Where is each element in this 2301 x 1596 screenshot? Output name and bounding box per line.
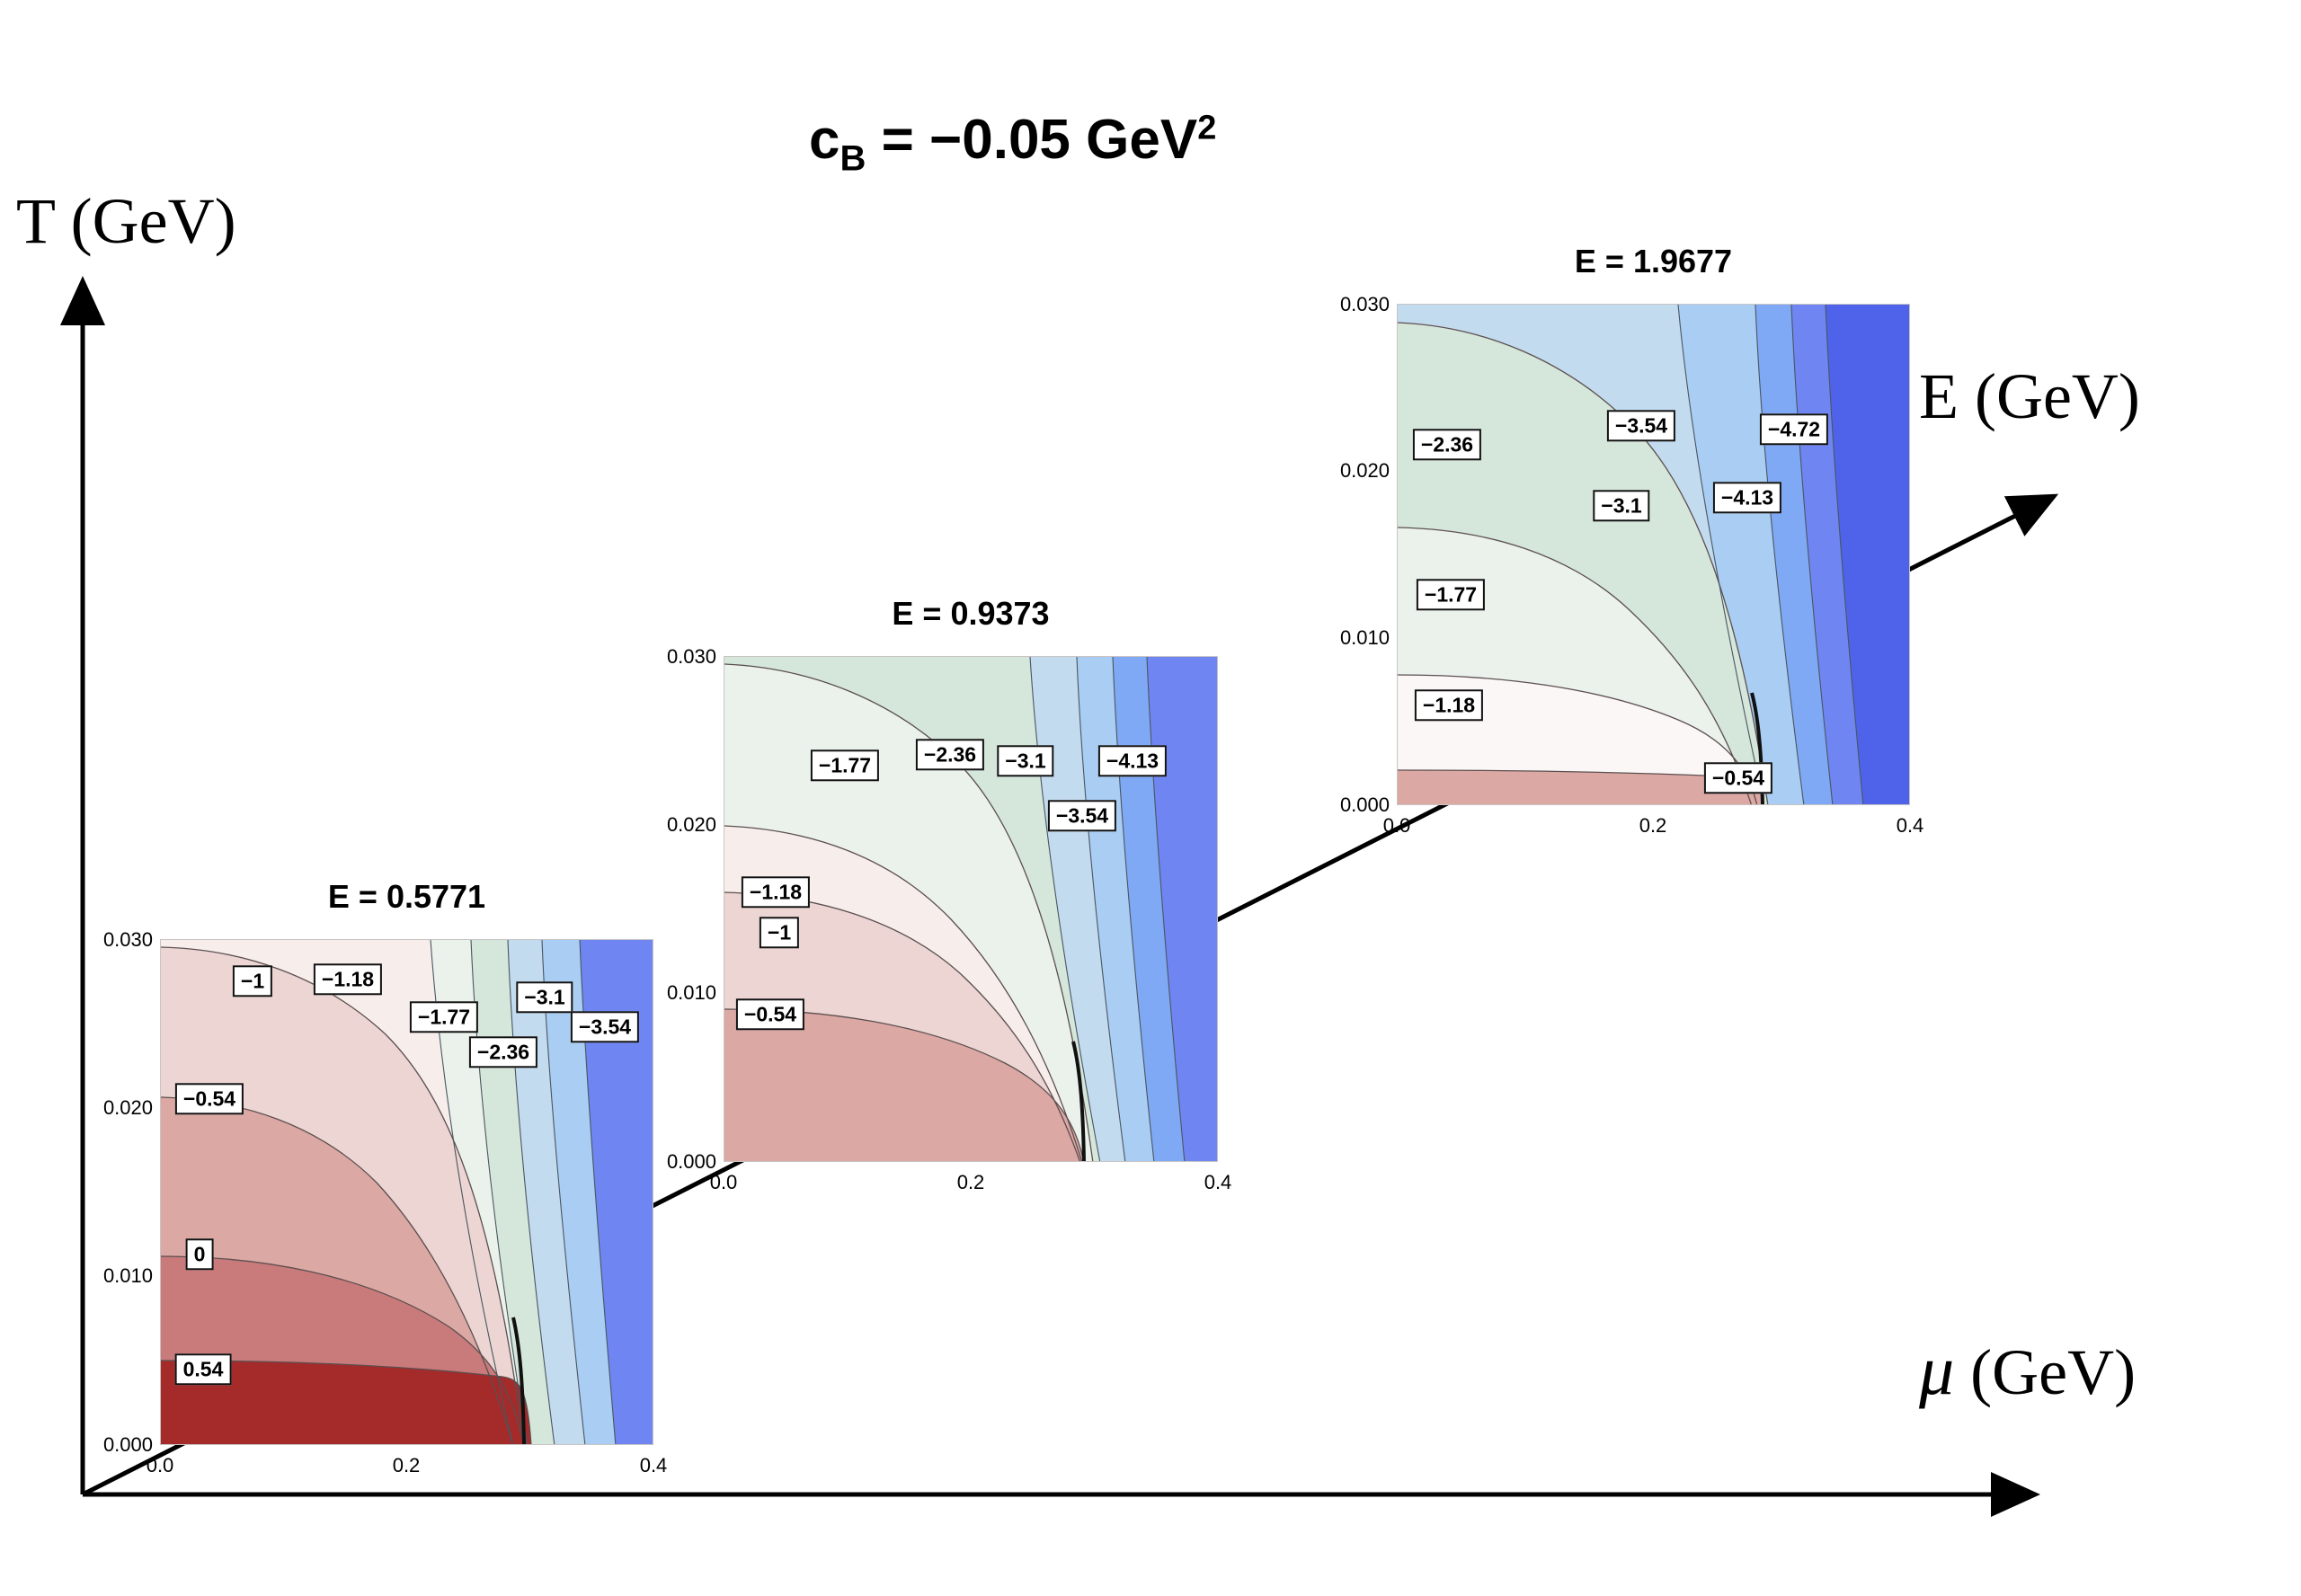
panel-2-xtick-0: 0.0: [710, 1171, 738, 1194]
t-axis-label: T (GeV): [16, 184, 236, 259]
contour-label: −0.54: [736, 998, 804, 1030]
contour-label: −1: [233, 965, 272, 997]
panel-1-xtick-1: 0.2: [393, 1454, 421, 1477]
contour-label: −2.36: [1413, 429, 1481, 460]
contour-label: −1.77: [1417, 579, 1485, 610]
panel-2-xtick-2: 0.4: [1204, 1171, 1232, 1194]
panel-1-ytick-0: 0.000: [72, 1433, 153, 1457]
panel-3-xtick-2: 0.4: [1897, 814, 1924, 838]
contour-panel-1: E = 0.5771: [160, 885, 653, 1496]
figure-title-exponent: 2: [1197, 109, 1216, 146]
panel-3-xtick-1: 0.2: [1639, 814, 1667, 838]
contour-label: −3.1: [516, 981, 573, 1013]
panel-2-xtick-1: 0.2: [957, 1171, 985, 1194]
contour-label: −2.36: [469, 1036, 537, 1068]
contour-label: −2.36: [916, 739, 984, 770]
contour-label: −3.1: [997, 745, 1053, 776]
figure-canvas: cB = −0.05 GeV2 T (GeV) E (GeV) μ (GeV) …: [0, 0, 2301, 1596]
panel-3-plot-frame: [1397, 304, 1910, 805]
contour-label: −4.13: [1098, 745, 1167, 776]
panel-2-plot-frame: [724, 656, 1218, 1162]
contour-label: −3.1: [1593, 490, 1649, 521]
contour-label: −0.54: [1704, 762, 1772, 794]
mu-glyph: μ: [1919, 1331, 1954, 1409]
panel-1-xtick-2: 0.4: [640, 1454, 668, 1477]
panel-3-ytick-1: 0.010: [1309, 626, 1390, 650]
panel-1-ytick-1: 0.010: [72, 1264, 153, 1288]
e-axis-label: E (GeV): [1919, 359, 2140, 434]
panel-2-ytick-2: 0.020: [635, 813, 716, 837]
contour-label: −4.72: [1760, 413, 1828, 445]
contour-label: −1.18: [1415, 689, 1483, 721]
panel-3-ytick-2: 0.020: [1309, 459, 1390, 483]
panel-1-ytick-2: 0.020: [72, 1096, 153, 1120]
contour-label: −1: [760, 917, 799, 948]
contour-label: 0: [186, 1238, 214, 1270]
figure-title-cb: c: [809, 109, 840, 171]
panel-2-ytick-3: 0.030: [635, 645, 716, 669]
mu-axis-unit: (GeV): [1954, 1336, 2136, 1408]
panel-1-xtick-0: 0.0: [147, 1454, 174, 1477]
panel-2-contour-svg: [724, 657, 1218, 1162]
contour-label: −1.77: [811, 749, 879, 781]
panel-3-contour-svg: [1398, 305, 1910, 805]
contour-label: −3.54: [571, 1011, 639, 1042]
contour-label: −1.18: [742, 876, 810, 908]
contour-panel-2: E = 0.9373: [724, 602, 1218, 1213]
panel-3-ytick-0: 0.000: [1309, 794, 1390, 817]
panel-1-title: E = 0.5771: [160, 878, 653, 916]
panel-1-ytick-3: 0.030: [72, 928, 153, 952]
panel-3-ytick-3: 0.030: [1309, 293, 1390, 316]
figure-title-subscript: B: [840, 138, 866, 178]
contour-label: −1.77: [410, 1001, 478, 1033]
contour-label: −1.18: [314, 963, 382, 995]
panel-2-ytick-0: 0.000: [635, 1150, 716, 1174]
figure-title: cB = −0.05 GeV2: [809, 108, 1216, 179]
panel-2-ytick-1: 0.010: [635, 981, 716, 1005]
panel-3-title: E = 1.9677: [1397, 243, 1910, 280]
figure-title-value: = −0.05 GeV: [866, 109, 1197, 171]
panel-2-title: E = 0.9373: [724, 595, 1218, 633]
contour-label: 0.54: [175, 1353, 232, 1385]
panel-3-xtick-0: 0.0: [1383, 814, 1411, 838]
mu-axis-label: μ (GeV): [1919, 1330, 2136, 1411]
contour-label: −4.13: [1713, 482, 1781, 513]
contour-label: −0.54: [175, 1083, 244, 1114]
contour-label: −3.54: [1607, 410, 1675, 441]
contour-panel-3: E = 1.9677: [1397, 250, 1910, 861]
contour-label: −3.54: [1048, 800, 1116, 831]
